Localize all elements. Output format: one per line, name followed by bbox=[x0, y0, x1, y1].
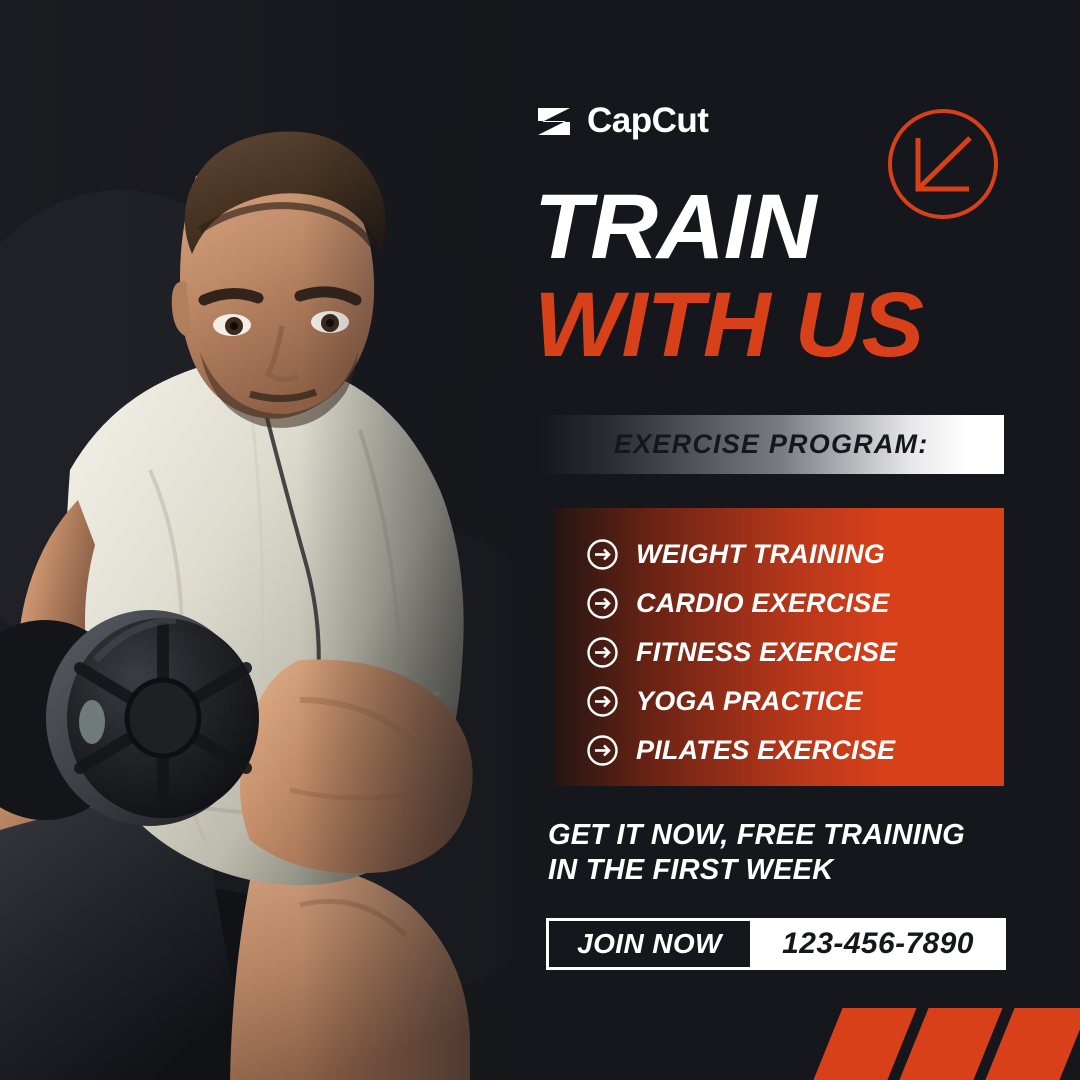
promo-tagline: GET IT NOW, FREE TRAINING IN THE FIRST W… bbox=[548, 818, 1018, 889]
list-item: WEIGHT TRAINING bbox=[586, 530, 1004, 579]
arrow-right-circle-icon bbox=[586, 636, 619, 669]
list-item-label: FITNESS EXERCISE bbox=[636, 637, 897, 668]
list-item-label: YOGA PRACTICE bbox=[636, 686, 863, 717]
brand-name: CapCut bbox=[587, 101, 708, 141]
call-to-action-bar: JOIN NOW 123-456-7890 bbox=[546, 918, 1006, 970]
brand-logo: CapCut bbox=[536, 101, 708, 141]
join-now-button[interactable]: JOIN NOW bbox=[546, 918, 750, 970]
exercise-program-banner: EXERCISE PROGRAM: bbox=[540, 415, 1004, 474]
list-item: PILATES EXERCISE bbox=[586, 726, 1004, 775]
phone-number-label: 123-456-7890 bbox=[782, 927, 974, 961]
arrow-right-circle-icon bbox=[586, 734, 619, 767]
content-column: CapCut TRAIN WITH US EXERCISE PROGRAM: bbox=[534, 0, 1080, 1080]
headline-line-2: WITH US bbox=[534, 280, 1080, 370]
list-item: FITNESS EXERCISE bbox=[586, 628, 1004, 677]
program-list: WEIGHT TRAINING CARDIO EXERCISE FITNESS … bbox=[554, 508, 1004, 786]
tagline-line-2: IN THE FIRST WEEK bbox=[548, 853, 1018, 888]
list-item-label: PILATES EXERCISE bbox=[636, 735, 895, 766]
list-item-label: WEIGHT TRAINING bbox=[636, 539, 885, 570]
capcut-bowtie-icon bbox=[536, 105, 574, 138]
arrow-right-circle-icon bbox=[586, 587, 619, 620]
list-item-label: CARDIO EXERCISE bbox=[636, 588, 890, 619]
headline-line-1: TRAIN bbox=[534, 182, 1080, 272]
poster-canvas: CapCut TRAIN WITH US EXERCISE PROGRAM: bbox=[0, 0, 1080, 1080]
exercise-program-label: EXERCISE PROGRAM: bbox=[614, 429, 928, 460]
arrow-right-circle-icon bbox=[586, 685, 619, 718]
tagline-line-1: GET IT NOW, FREE TRAINING bbox=[548, 818, 1018, 853]
phone-number-field[interactable]: 123-456-7890 bbox=[750, 918, 1006, 970]
arrow-right-circle-icon bbox=[586, 538, 619, 571]
page-title: TRAIN WITH US bbox=[534, 182, 1080, 370]
list-item: YOGA PRACTICE bbox=[586, 677, 1004, 726]
join-now-label: JOIN NOW bbox=[577, 928, 722, 960]
hero-photo bbox=[0, 0, 560, 1080]
list-item: CARDIO EXERCISE bbox=[586, 579, 1004, 628]
